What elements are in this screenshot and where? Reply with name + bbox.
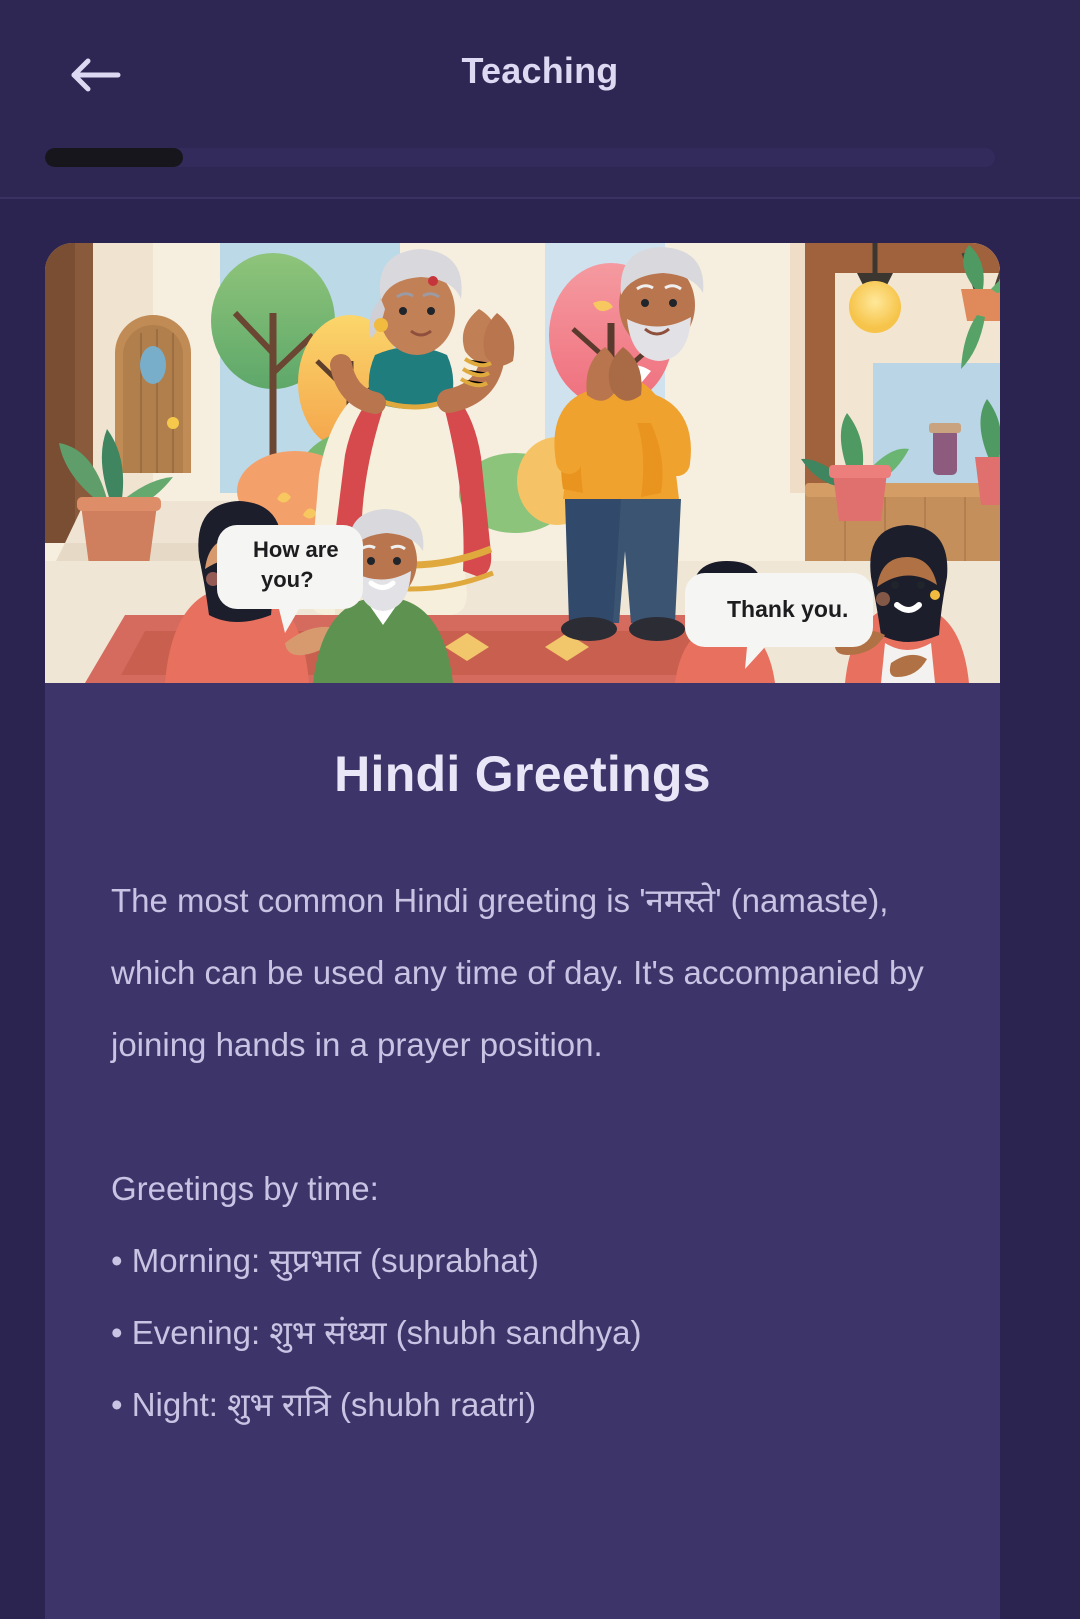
lesson-title: Hindi Greetings — [45, 745, 1000, 803]
app-screen: Teaching — [0, 0, 1080, 1619]
lesson-card: How are you? Thank you. Hindi Greetings … — [45, 243, 1000, 1619]
list-item: • Evening: शुभ संध्या (shubh sandhya) — [111, 1297, 934, 1369]
lesson-progress-bar[interactable] — [45, 148, 995, 167]
lesson-body: The most common Hindi greeting is 'नमस्त… — [111, 865, 934, 1441]
greetings-section-label: Greetings by time: — [111, 1153, 934, 1225]
lesson-paragraph: The most common Hindi greeting is 'नमस्त… — [111, 865, 934, 1081]
paragraph-spacer — [111, 1081, 934, 1153]
app-header: Teaching — [0, 0, 1080, 199]
page-title: Teaching — [0, 50, 1080, 92]
svg-text:you?: you? — [261, 567, 314, 592]
list-item: • Morning: सुप्रभात (suprabhat) — [111, 1225, 934, 1297]
svg-text:Thank you.: Thank you. — [727, 596, 848, 622]
svg-text:How are: How are — [253, 537, 339, 562]
lesson-progress-fill — [45, 148, 183, 167]
lesson-illustration: How are you? Thank you. — [45, 243, 1000, 683]
greetings-list: • Morning: सुप्रभात (suprabhat) • Evenin… — [111, 1225, 934, 1441]
list-item: • Night: शुभ रात्रि (shubh raatri) — [111, 1369, 934, 1441]
